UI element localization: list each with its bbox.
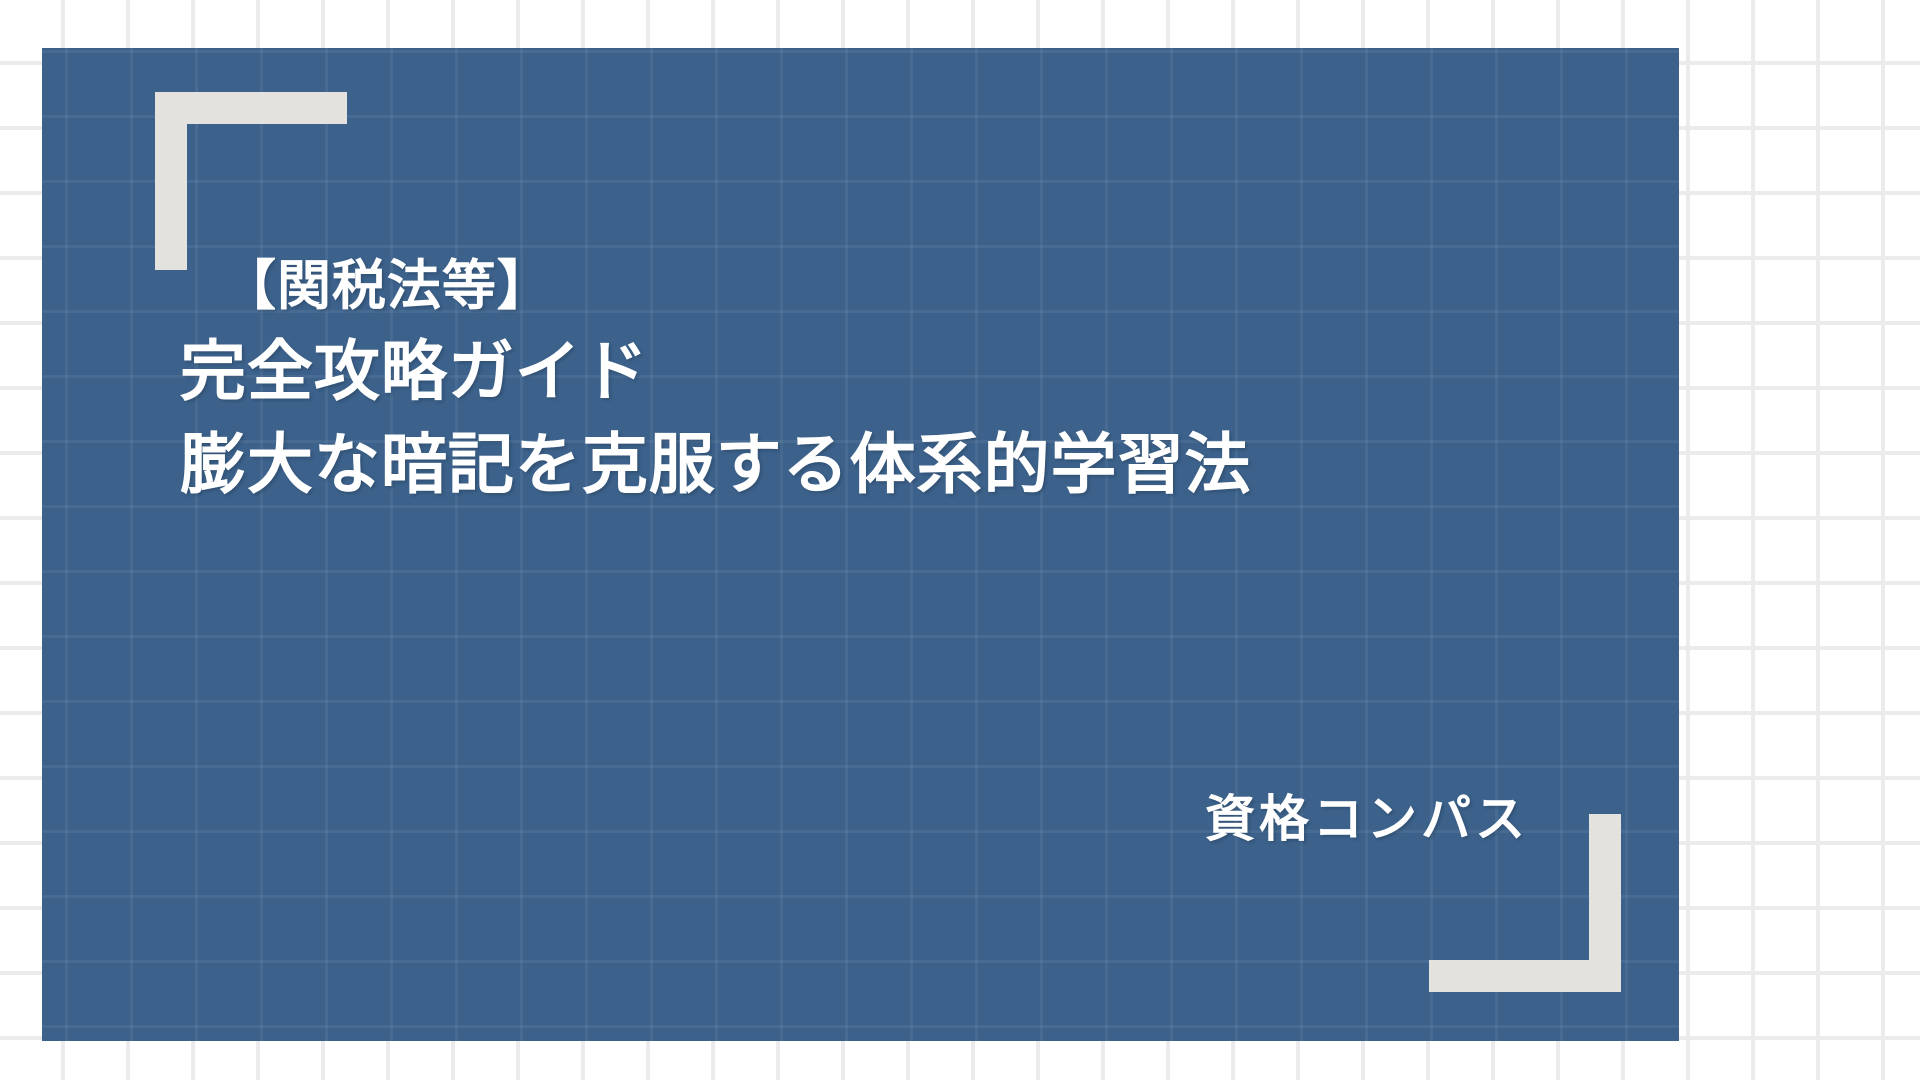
page-subtitle: 膨大な暗記を克服する体系的学習法 [180,418,1600,512]
title-card: 【関税法等】 完全攻略ガイド 膨大な暗記を克服する体系的学習法 資格コンパス [42,48,1679,1041]
card-grid-pattern [42,48,1679,1041]
page-background: 【関税法等】 完全攻略ガイド 膨大な暗記を克服する体系的学習法 資格コンパス [0,0,1920,1080]
corner-bracket-top-left-icon [155,92,347,270]
brand-name: 資格コンパス [1205,779,1529,851]
headline-block: 【関税法等】 完全攻略ガイド 膨大な暗記を克服する体系的学習法 [180,248,1600,512]
category-label: 【関税法等】 [180,248,1600,325]
page-title: 完全攻略ガイド [180,325,1600,419]
